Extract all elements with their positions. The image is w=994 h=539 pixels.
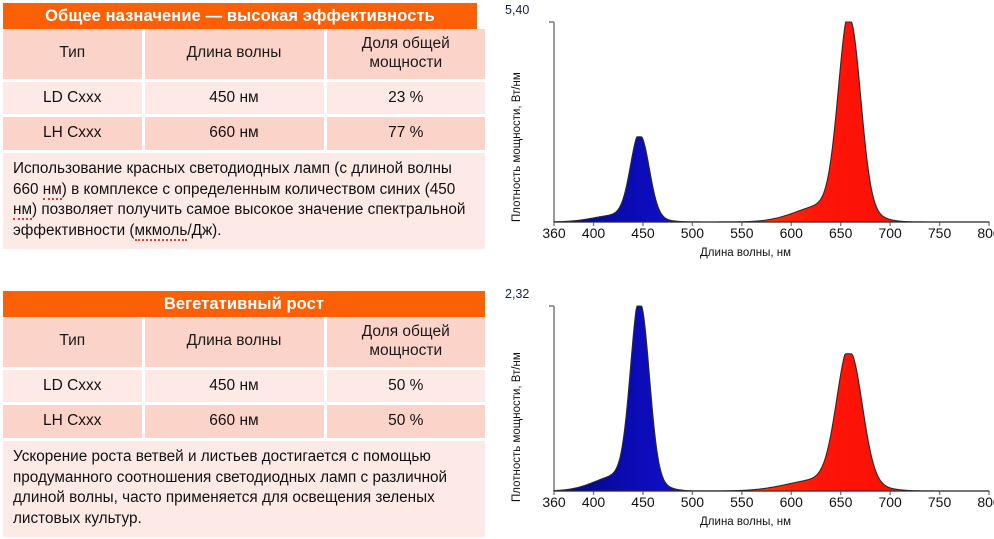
x-tick-label: 500 xyxy=(681,494,704,510)
x-axis-title: Длина волны, нм xyxy=(497,247,994,259)
spec-table-vegetative: Тип Длина волны Доля общей мощности LD C… xyxy=(3,317,485,441)
col-header-type: Тип xyxy=(3,29,143,80)
y-axis-max-label: 5,40 xyxy=(505,3,529,17)
table-row: LD Cxxx 450 нм 23 % xyxy=(3,80,485,116)
card-title-general: Общее назначение — высокая эффективность xyxy=(3,3,477,29)
y-axis-max-label: 2,32 xyxy=(505,287,529,301)
x-tick-label: 750 xyxy=(928,225,951,241)
col-header-share: Доля общей мощности xyxy=(325,29,485,80)
x-tick-label: 450 xyxy=(631,494,654,510)
cell-wavelength: 660 нм xyxy=(143,116,325,152)
col-header-wavelength: Длина волны xyxy=(143,317,325,368)
spectrum-curve xyxy=(554,22,989,222)
table-header-row: Тип Длина волны Доля общей мощности xyxy=(3,29,485,80)
col-header-share: Доля общей мощности xyxy=(325,317,485,368)
cell-type: LH Cxxx xyxy=(3,404,143,440)
y-axis-title: Плотность мощности, Вт/нм xyxy=(511,352,523,502)
cell-wavelength: 450 нм xyxy=(143,368,325,404)
x-tick-label: 750 xyxy=(928,494,951,510)
cell-share: 77 % xyxy=(325,116,485,152)
table-header-row: Тип Длина волны Доля общей мощности xyxy=(3,317,485,368)
x-tick-label: 700 xyxy=(878,494,901,510)
cell-type: LD Cxxx xyxy=(3,80,143,116)
spectrum-chart-vegetative: 2,32 Плотность мощности, Вт/нм 360400450… xyxy=(497,284,994,539)
cell-share: 50 % xyxy=(325,368,485,404)
x-tick-label: 550 xyxy=(730,494,753,510)
table-row: LH Cxxx 660 нм 50 % xyxy=(3,404,485,440)
x-tick-label: 650 xyxy=(829,494,852,510)
x-tick-label: 400 xyxy=(582,494,605,510)
cell-share: 50 % xyxy=(325,404,485,440)
card-body-vegetative: Тип Длина волны Доля общей мощности LD C… xyxy=(3,317,485,537)
card-title-vegetative: Вегетативный рост xyxy=(3,291,485,317)
x-tick-label: 600 xyxy=(780,225,803,241)
cell-share: 23 % xyxy=(325,80,485,116)
card-note-general: Использование красных светодиодных ламп … xyxy=(3,153,485,249)
spec-table-general: Тип Длина волны Доля общей мощности LD C… xyxy=(3,29,485,153)
x-tick-label: 700 xyxy=(878,225,901,241)
x-tick-label: 550 xyxy=(730,225,753,241)
cell-wavelength: 660 нм xyxy=(143,404,325,440)
y-axis-title: Плотность мощности, Вт/нм xyxy=(511,72,523,222)
table-row: LD Cxxx 450 нм 50 % xyxy=(3,368,485,404)
x-axis-ticks: 360400450500550600650700750800 xyxy=(497,225,994,245)
x-tick-label: 360 xyxy=(542,494,565,510)
spectrum-chart-general: 5,40 Плотность мощности, Вт/нм 360400450… xyxy=(497,0,994,272)
cell-type: LD Cxxx xyxy=(3,368,143,404)
x-tick-label: 450 xyxy=(631,225,654,241)
x-tick-label: 500 xyxy=(681,225,704,241)
x-tick-label: 800 xyxy=(977,494,994,510)
col-header-type: Тип xyxy=(3,317,143,368)
x-tick-label: 800 xyxy=(977,225,994,241)
x-tick-label: 360 xyxy=(542,225,565,241)
slide-root: Общее назначение — высокая эффективность… xyxy=(0,0,994,539)
col-header-wavelength: Длина волны xyxy=(143,29,325,80)
left-panel: Общее назначение — высокая эффективность… xyxy=(0,0,490,539)
card-note-vegetative: Ускорение роста ветвей и листьев достига… xyxy=(3,441,485,537)
spectrum-curve xyxy=(554,137,989,222)
x-tick-label: 600 xyxy=(780,494,803,510)
x-axis-ticks: 360400450500550600650700750800 xyxy=(497,494,994,514)
cell-wavelength: 450 нм xyxy=(143,80,325,116)
spectrum-curve xyxy=(554,306,989,491)
card-body-general: Тип Длина волны Доля общей мощности LD C… xyxy=(3,29,485,249)
table-row: LH Cxxx 660 нм 77 % xyxy=(3,116,485,152)
x-tick-label: 650 xyxy=(829,225,852,241)
x-tick-label: 400 xyxy=(582,225,605,241)
x-axis-title: Длина волны, нм xyxy=(497,516,994,528)
cell-type: LH Cxxx xyxy=(3,116,143,152)
